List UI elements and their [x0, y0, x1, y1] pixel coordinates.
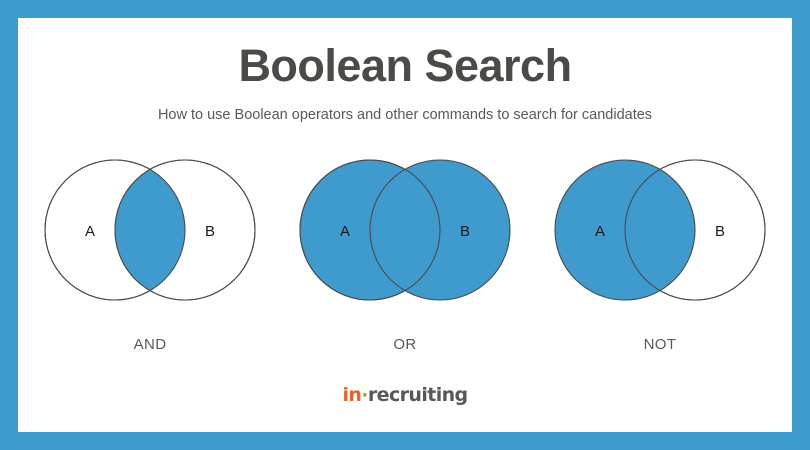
- logo-part-recruiting: recruiting: [368, 384, 468, 406]
- set-b-label: B: [205, 223, 215, 240]
- venn-svg-and: A B: [30, 150, 270, 310]
- operator-label-or: OR: [285, 336, 525, 353]
- operator-label-and: AND: [30, 336, 270, 353]
- venn-diagram-and: A B AND: [30, 150, 270, 360]
- venn-svg-not: A B: [540, 150, 780, 310]
- slide-frame: Boolean Search How to use Boolean operat…: [0, 0, 810, 450]
- page-subtitle: How to use Boolean operators and other c…: [18, 106, 792, 125]
- set-a-label: A: [595, 223, 605, 240]
- page-title: Boolean Search: [18, 42, 792, 89]
- venn-diagram-or: A B OR: [285, 150, 525, 360]
- brand-logo: in·recruiting: [18, 382, 792, 408]
- logo-part-in: in: [342, 384, 361, 406]
- set-b-label: B: [715, 223, 725, 240]
- operator-label-not: NOT: [540, 336, 780, 353]
- set-b-label: B: [460, 223, 470, 240]
- set-a-label: A: [340, 223, 350, 240]
- brand-logo-text: in·recruiting: [342, 382, 467, 408]
- logo-part-dot: ·: [361, 384, 368, 406]
- venn-diagram-row: A B AND A B OR: [18, 150, 792, 360]
- set-a-label: A: [85, 223, 95, 240]
- venn-svg-or: A B: [285, 150, 525, 310]
- venn-diagram-not: A B NOT: [540, 150, 780, 360]
- slide-canvas: Boolean Search How to use Boolean operat…: [18, 18, 792, 432]
